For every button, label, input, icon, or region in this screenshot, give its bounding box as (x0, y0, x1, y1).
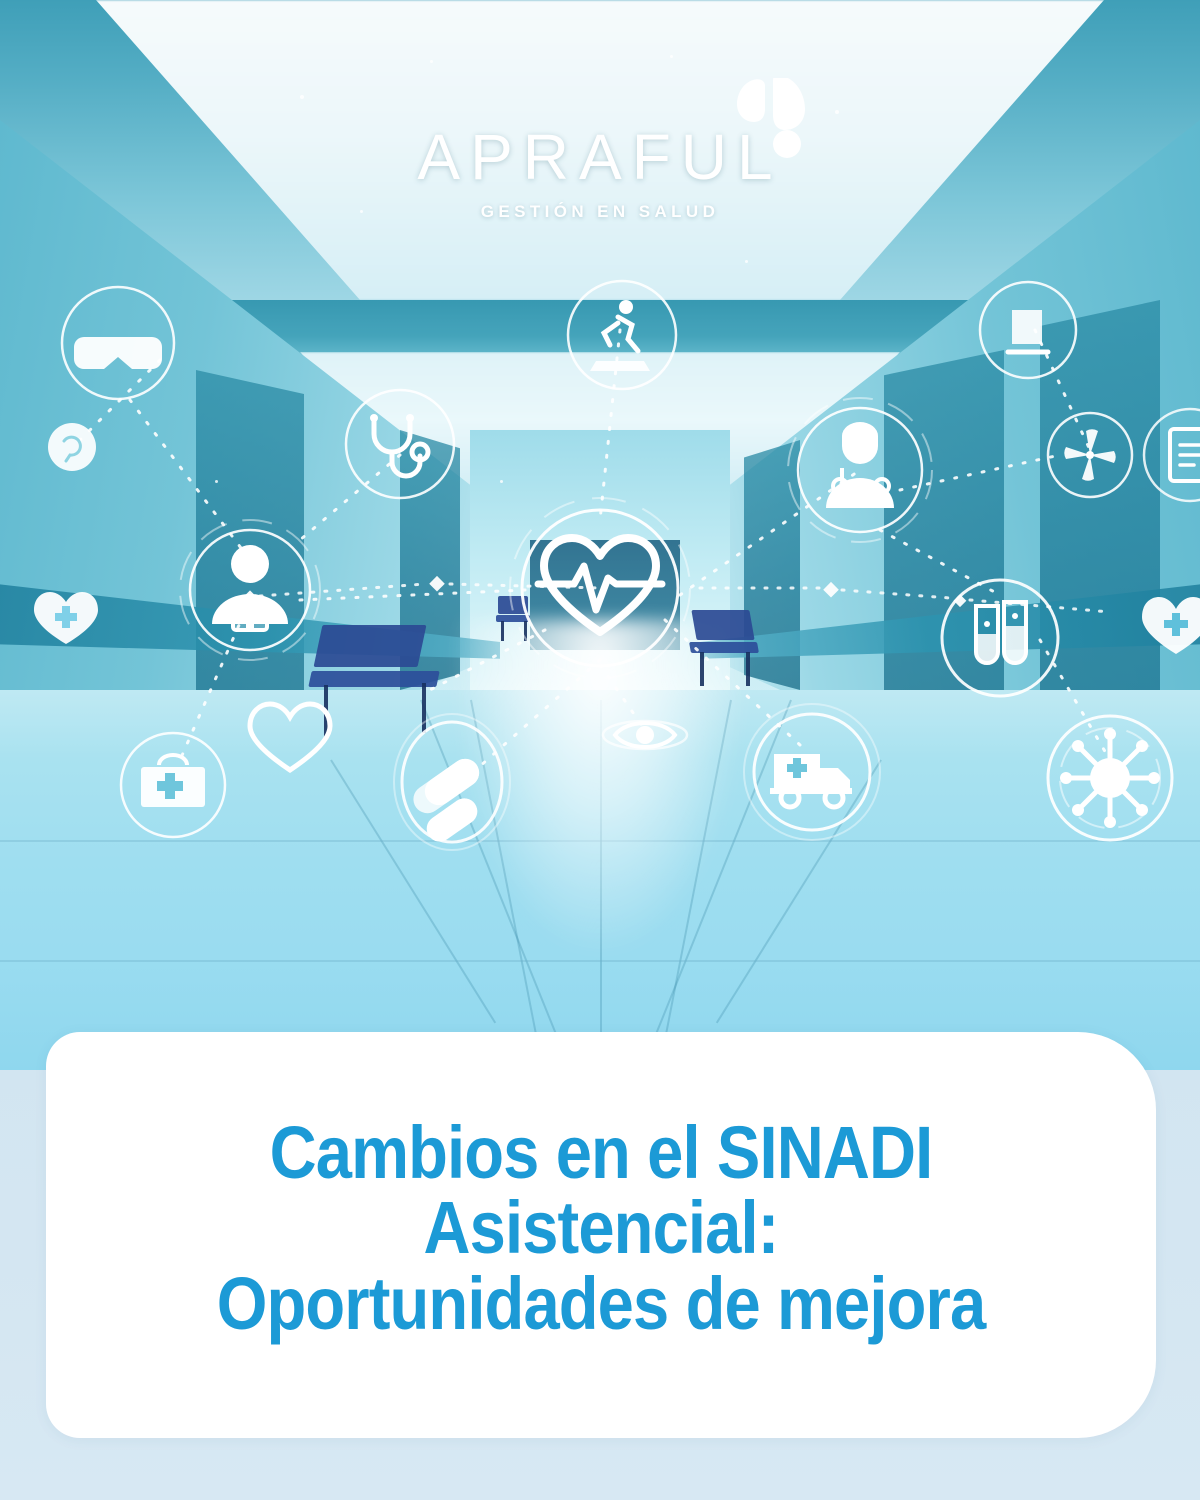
running-person-treadmill-icon (568, 281, 676, 389)
clipboard-checklist-icon (1144, 409, 1200, 501)
brand-wordmark: APRAFUL (417, 125, 782, 189)
brand-logo: APRAFUL GESTIÓN EN SALUD (0, 125, 1200, 222)
doctor-stethoscope-icon (788, 398, 932, 542)
page-title-line-3: Oportunidades de mejora (113, 1266, 1090, 1341)
first-aid-kit-icon (121, 733, 225, 837)
capsule-pill-icon (394, 714, 510, 850)
page-title-line-1: Cambios en el SINADI (113, 1115, 1090, 1190)
ear-nose-throat-icon (48, 423, 96, 471)
butterfly-logo-icon (735, 78, 807, 158)
ambulance-icon (744, 704, 880, 840)
vr-headset-icon (62, 287, 174, 399)
heart-outline-icon (250, 704, 330, 770)
heart-heartbeat-icon (510, 498, 690, 678)
poster: APRAFUL GESTIÓN EN SALUD Cambios en el S… (0, 0, 1200, 1500)
heart-cross-right-icon (1142, 597, 1200, 654)
page-title-line-2: Asistencial: (113, 1190, 1090, 1265)
brand-tagline: GESTIÓN EN SALUD (0, 202, 1200, 222)
patient-badge-icon (180, 520, 320, 660)
virus-microbe-icon (1048, 716, 1172, 840)
dna-microscope-icon (980, 282, 1076, 378)
stethoscope-icon (346, 390, 454, 498)
pinwheel-icon (1048, 413, 1132, 497)
title-card-inner: Cambios en el SINADI Asistencial: Oportu… (46, 1115, 1156, 1355)
title-card: Cambios en el SINADI Asistencial: Oportu… (46, 1032, 1156, 1438)
eye-icon (603, 721, 687, 749)
test-tubes-icon (942, 580, 1058, 696)
heart-cross-icon (34, 592, 98, 644)
